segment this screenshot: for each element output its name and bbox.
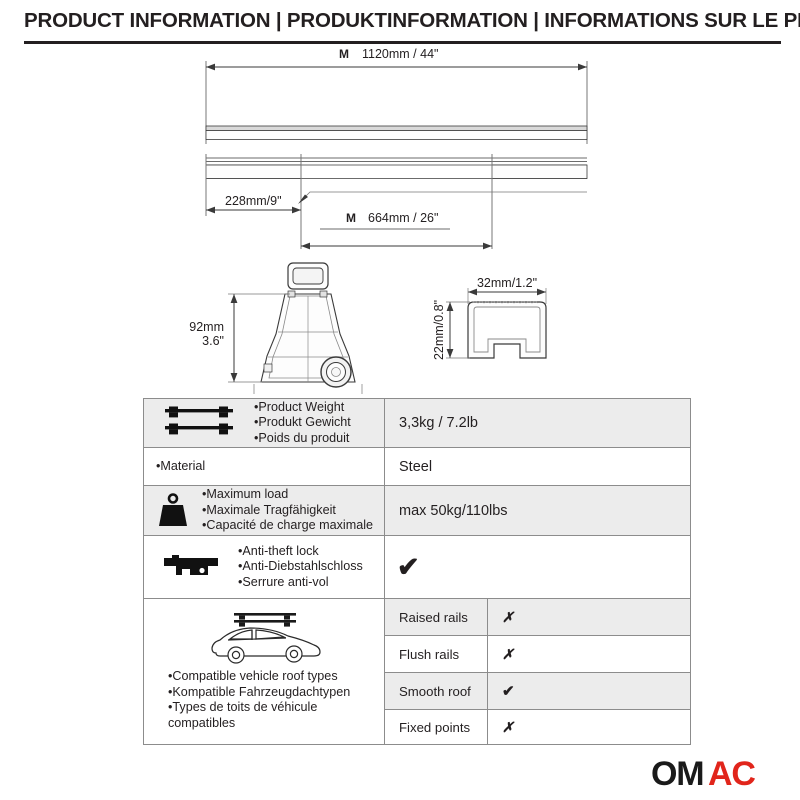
row-value: 3,3kg / 7.2lb <box>385 399 690 447</box>
row-value: Steel <box>385 448 690 485</box>
specification-table: •Product Weight •Produkt Gewicht •Poids … <box>143 398 691 745</box>
dim-total-value: 1120mm / 44" <box>362 47 438 61</box>
compat-option-row: Flush rails ✗ <box>385 636 690 673</box>
row-label-en: •Material <box>156 459 384 475</box>
compat-option-mark: ✗ <box>488 636 690 672</box>
car-with-rack-glyph <box>206 607 326 669</box>
compatibility-labels: •Compatible vehicle roof types •Kompatib… <box>168 669 384 731</box>
dim-spacing-value: 664mm / 26" <box>368 211 438 225</box>
row-value-check: ✔ <box>385 536 690 598</box>
lock-icon <box>144 536 238 598</box>
weight-icon <box>144 486 202 535</box>
omac-logo: OM AC <box>651 757 781 791</box>
compat-option-name: Flush rails <box>385 636 487 672</box>
row-label-en: •Anti-theft lock <box>238 544 384 560</box>
car-with-rack-icon <box>206 607 326 669</box>
dim-height-line2: 3.6" <box>202 334 224 348</box>
dim-profile-width: 32mm/1.2" <box>477 276 537 290</box>
compatibility-description: •Compatible vehicle roof types •Kompatib… <box>144 599 384 744</box>
table-row: •Anti-theft lock •Anti-Diebstahlschloss … <box>144 536 690 599</box>
dim-total-prefix: M <box>339 47 349 61</box>
page-title: PRODUCT INFORMATION | PRODUKTINFORMATION… <box>24 9 784 33</box>
compat-label-fr: •Types de toits de véhicule <box>168 700 384 716</box>
table-row: •Maximum load •Maximale Tragfähigkeit •C… <box>144 486 690 536</box>
row-label-group: •Material <box>156 448 384 485</box>
dim-spacing-prefix: M <box>346 211 356 225</box>
row-value: max 50kg/110lbs <box>385 486 690 535</box>
row-label-group: •Anti-theft lock •Anti-Diebstahlschloss … <box>238 536 384 598</box>
row-label-en: •Maximum load <box>202 487 384 503</box>
omac-logo-glyph: OM AC <box>651 757 781 791</box>
table-row: •Product Weight •Produkt Gewicht •Poids … <box>144 399 690 448</box>
row-label-group: •Product Weight •Produkt Gewicht •Poids … <box>254 399 384 447</box>
dim-profile-height: 22mm/0.8" <box>432 300 446 360</box>
row-label-fr: •Serrure anti-vol <box>238 575 384 591</box>
lock-glyph <box>162 552 220 582</box>
compat-option-mark: ✗ <box>488 599 690 635</box>
compat-option-mark: ✗ <box>488 710 690 744</box>
roof-bars-icon <box>144 399 254 447</box>
compat-option-row: Fixed points ✗ <box>385 710 690 744</box>
dim-end-offset: 228mm/9" <box>225 194 282 208</box>
compat-label-en: •Compatible vehicle roof types <box>168 669 384 685</box>
compat-option-row: Smooth roof ✔ <box>385 673 690 710</box>
table-row: •Material Steel <box>144 448 690 486</box>
logo-text-dark: OM <box>651 757 703 791</box>
row-label-fr: •Capacité de charge maximale <box>202 518 384 534</box>
compat-option-mark: ✔ <box>488 673 690 709</box>
row-label-fr: •Poids du produit <box>254 431 384 447</box>
compat-label-fr-cont: compatibles <box>168 716 384 732</box>
compat-label-de: •Kompatible Fahrzeugdachtypen <box>168 685 384 701</box>
technical-drawing: M 1120mm / 44" 228mm/9" M 664mm / 26" 92… <box>0 44 800 394</box>
weight-glyph <box>155 493 191 529</box>
row-label-group: •Maximum load •Maximale Tragfähigkeit •C… <box>202 486 384 535</box>
roof-bars-glyph <box>163 406 235 440</box>
drawing-canvas: M 1120mm / 44" 228mm/9" M 664mm / 26" 92… <box>0 44 800 394</box>
compatibility-section: •Compatible vehicle roof types •Kompatib… <box>144 599 690 744</box>
row-label-en: •Product Weight <box>254 400 384 416</box>
dim-height-line1: 92mm <box>189 320 224 334</box>
row-label-de: •Maximale Tragfähigkeit <box>202 503 384 519</box>
compat-option-name: Smooth roof <box>385 673 487 709</box>
compat-option-name: Raised rails <box>385 599 487 635</box>
compat-option-row: Raised rails ✗ <box>385 599 690 636</box>
row-label-de: •Produkt Gewicht <box>254 415 384 431</box>
row-label-de: •Anti-Diebstahlschloss <box>238 559 384 575</box>
header-bar: PRODUCT INFORMATION | PRODUKTINFORMATION… <box>0 0 800 42</box>
logo-text-accent: AC <box>708 757 755 791</box>
compat-option-name: Fixed points <box>385 710 487 744</box>
